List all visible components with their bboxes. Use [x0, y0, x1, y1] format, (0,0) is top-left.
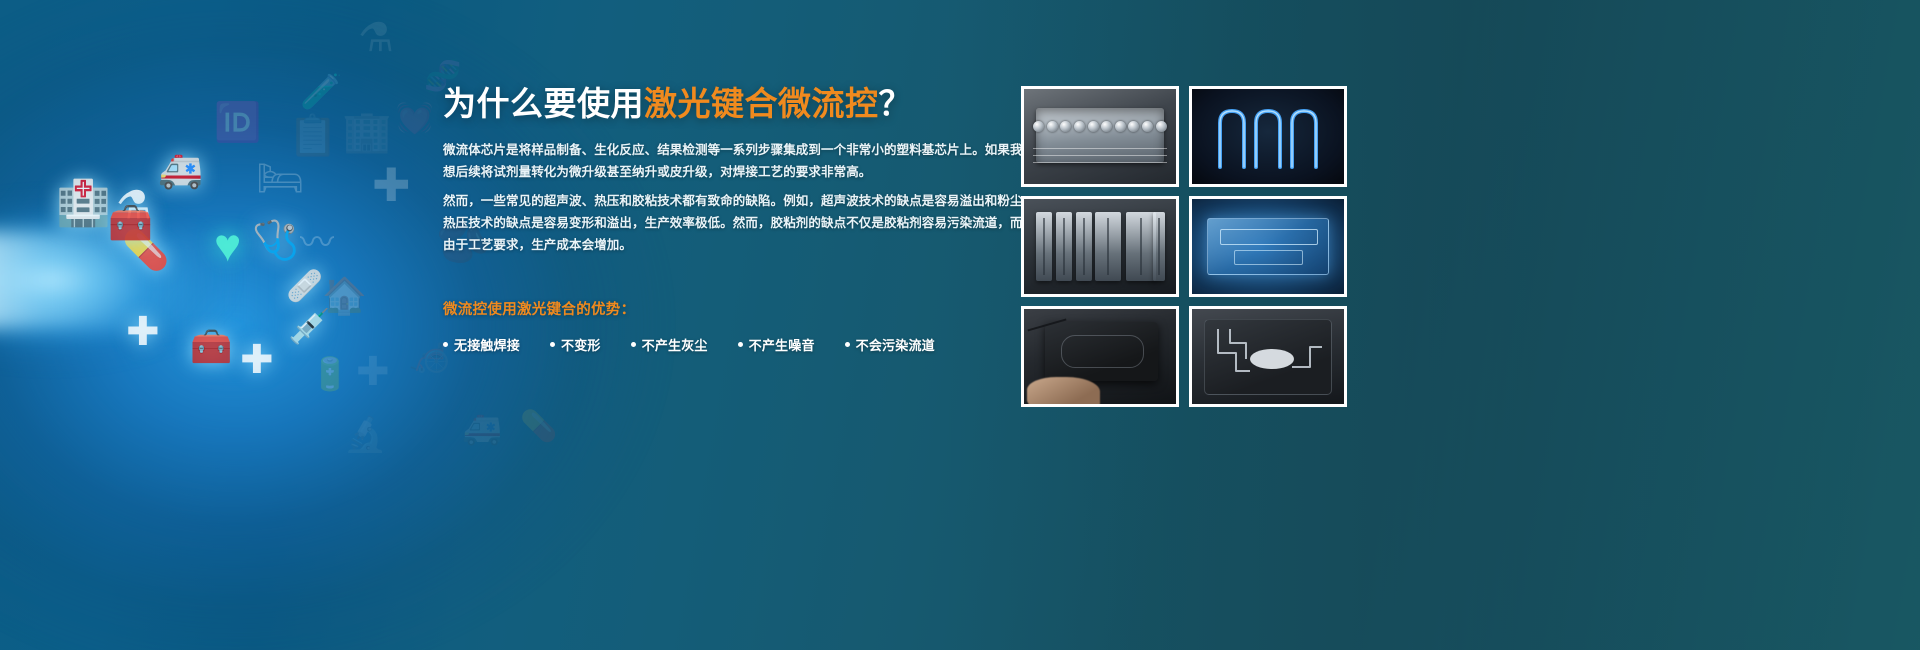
- ecg-line-icon: 〰: [300, 226, 334, 260]
- microscope-icon: 🔬: [344, 418, 386, 452]
- stethoscope-icon: 🩺: [252, 222, 299, 260]
- flask-bright-icon: ⚗: [116, 186, 152, 226]
- medical-cross-icon: ✚: [126, 312, 160, 352]
- list-item: 不产生噪音: [738, 335, 815, 354]
- id-card-icon: 🆔: [214, 104, 261, 142]
- promotional-banner: ⚗ 🧪 🆔 📋 🏢 💓 🚑 ⚗ 🏥 🛏 ✚ 💊 ♥ 🩺 〰 🫘 🧰 🩹 ✚ 💉 …: [0, 0, 1920, 650]
- test-tube-icon: 🧪: [300, 75, 342, 109]
- ambulance-faint-icon: 🚑: [462, 412, 502, 444]
- text-column: 为什么要使用激光键合微流控？ 微流体芯片是将样品制备、生化反应、结果检测等一系列…: [443, 84, 983, 354]
- bullet-dot-icon: [845, 342, 850, 347]
- description-paragraphs: 微流体芯片是将样品制备、生化反应、结果检测等一系列步骤集成到一个非常小的塑料基芯…: [443, 139, 983, 256]
- headline-suffix: ？: [879, 85, 913, 122]
- paragraph-2-line-3: 由于工艺要求，生产成本会增加。: [443, 234, 983, 256]
- headline-prefix: 为什么要使用: [443, 85, 644, 122]
- heart-pulse-icon: 💓: [396, 104, 433, 134]
- hospital-bed-icon: 🛏: [256, 160, 304, 198]
- list-item: 无接触焊接: [443, 335, 520, 354]
- bullet-label: 不变形: [561, 335, 601, 354]
- paragraph-1-line-2: 想后续将试剂量转化为微升级甚至纳升或皮升级，对焊接工艺的要求非常高。: [443, 161, 983, 183]
- bullet-dot-icon: [738, 342, 743, 347]
- bandage-icon: 🩹: [286, 272, 323, 302]
- bullet-label: 不产生灰尘: [642, 335, 708, 354]
- list-item: 不产生灰尘: [631, 335, 708, 354]
- list-item: 不变形: [550, 335, 601, 354]
- clipboard-icon: 📋: [288, 116, 338, 156]
- advantages-subheading: 微流控使用激光键合的优势：: [443, 298, 983, 319]
- pills-faint-icon: 💊: [520, 412, 557, 442]
- photo-dark-chip-with-oval-chamber[interactable]: [1189, 306, 1347, 407]
- home-care-icon: 🏠: [322, 278, 367, 314]
- photo-serpentine-channel-glowing[interactable]: [1189, 86, 1347, 187]
- glow-core: [0, 175, 300, 385]
- heart-icon: ♥: [214, 222, 241, 268]
- bullet-label: 不会污染流道: [856, 335, 935, 354]
- battery-icon: 🔋: [310, 358, 350, 390]
- product-photo-grid: [1021, 86, 1347, 407]
- bullet-label: 不产生噪音: [749, 335, 815, 354]
- syringe-icon: 💉: [288, 310, 330, 344]
- medical-plus-icon: ✚: [356, 352, 390, 392]
- headline-accent: 激光键合微流控: [644, 85, 879, 122]
- page-title: 为什么要使用激光键合微流控？: [443, 84, 983, 124]
- paragraph-2-line-2: 热压技术的缺点是容易变形和溢出，生产效率极低。然而，胶粘剂的缺点不仅是胶粘剂容易…: [443, 212, 983, 234]
- photo-black-flexible-chip-in-hand[interactable]: [1021, 306, 1179, 407]
- flask-icon: ⚗: [358, 18, 394, 58]
- paragraph-2-line-1: 然而，一些常见的超声波、热压和胶粘技术都有致命的缺陷。例如，超声波技术的缺点是容…: [443, 190, 983, 212]
- light-beam: [0, 232, 270, 328]
- hospital-icon: 🏥: [56, 182, 111, 226]
- list-item: 不会污染流道: [845, 335, 935, 354]
- photo-striped-microfluidic-slides[interactable]: [1021, 196, 1179, 297]
- paragraph-1-line-1: 微流体芯片是将样品制备、生化反应、结果检测等一系列步骤集成到一个非常小的塑料基芯…: [443, 139, 983, 161]
- hospital-cross-icon: ✚: [240, 340, 274, 380]
- bullet-dot-icon: [443, 342, 448, 347]
- advantages-list: 无接触焊接 不变形 不产生灰尘 不产生噪音 不会污染流道: [443, 335, 983, 354]
- photo-microfluidic-chip-circular-wells[interactable]: [1021, 86, 1179, 187]
- bullet-dot-icon: [550, 342, 555, 347]
- first-aid-kit-icon: 🧰: [108, 205, 153, 241]
- ambulance-icon: 🚑: [158, 152, 203, 188]
- pill-icon: 💊: [122, 232, 169, 270]
- briefcase-medical-icon: 🧰: [190, 330, 232, 364]
- hospital-building-icon: 🏢: [342, 112, 392, 152]
- bullet-label: 无接触焊接: [454, 335, 520, 354]
- medical-cross-large-icon: ✚: [372, 162, 411, 208]
- bullet-dot-icon: [631, 342, 636, 347]
- photo-blue-transparent-manifold[interactable]: [1189, 196, 1347, 297]
